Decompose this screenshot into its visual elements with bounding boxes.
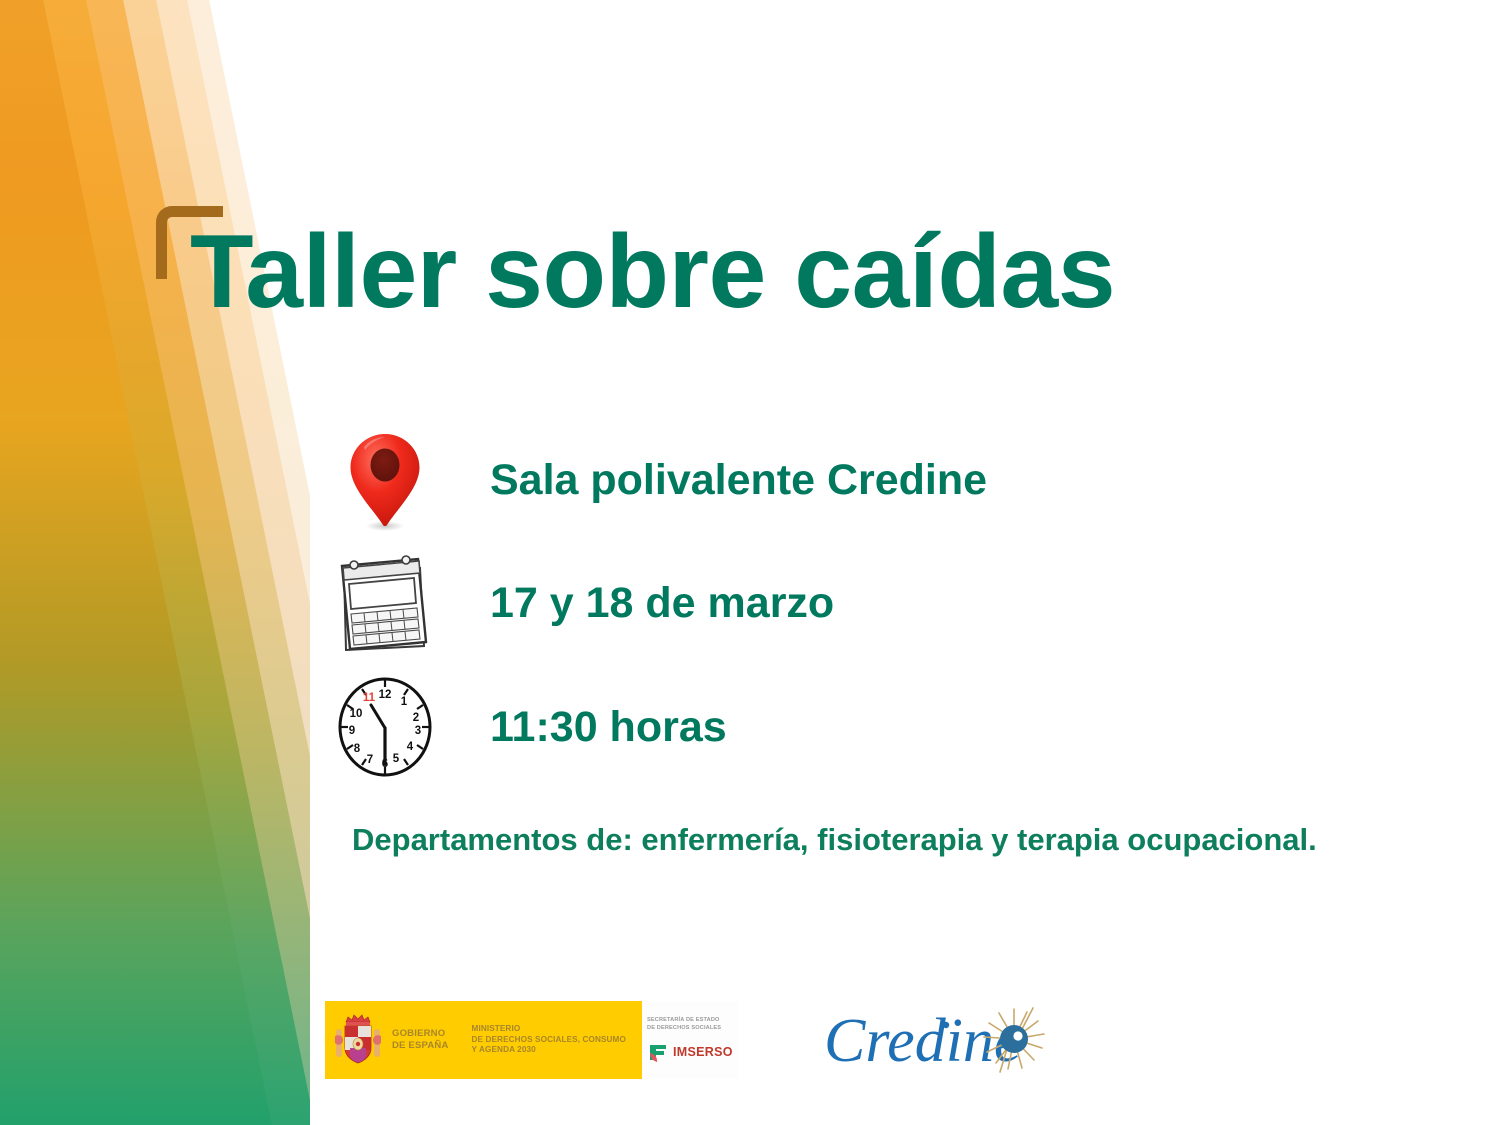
clock-icon: 12 1 2 3 4 5 6 7 8 9 10 11 bbox=[330, 672, 440, 782]
secretaria-line-2: DE DERECHOS SOCIALES bbox=[647, 1025, 738, 1033]
page-title: Taller sobre caídas bbox=[190, 218, 1115, 327]
gobierno-line-2: DE ESPAÑA bbox=[392, 1040, 449, 1052]
gobierno-de-espana-text: GOBIERNO DE ESPAÑA bbox=[392, 1028, 449, 1051]
svg-text:12: 12 bbox=[379, 689, 392, 701]
credine-logo: Credine bbox=[818, 993, 1068, 1089]
ministerio-line-1: MINISTERIO bbox=[472, 1024, 626, 1035]
band-stripe-5 bbox=[148, 0, 310, 1125]
imserso-mark-icon bbox=[647, 1041, 669, 1063]
secretaria-de-estado-text: SECRETARÍA DE ESTADO DE DERECHOS SOCIALE… bbox=[647, 1017, 738, 1032]
info-row-time: 12 1 2 3 4 5 6 7 8 9 10 11 11:30 horas bbox=[330, 672, 727, 782]
svg-text:3: 3 bbox=[415, 725, 421, 737]
svg-text:2: 2 bbox=[413, 712, 419, 724]
map-pin-icon bbox=[330, 425, 440, 535]
spain-coat-of-arms-icon bbox=[333, 1012, 383, 1068]
svg-text:8: 8 bbox=[354, 743, 361, 755]
info-row-date: 17 y 18 de marzo bbox=[330, 548, 834, 658]
svg-text:5: 5 bbox=[393, 753, 400, 765]
credine-wordmark: Credine bbox=[824, 1007, 1021, 1075]
presentation-slide: Taller sobre caídas bbox=[0, 0, 1500, 1125]
band-stripe-1 bbox=[0, 0, 296, 1125]
calendar-icon bbox=[330, 548, 440, 658]
band-stripe-3 bbox=[78, 0, 310, 1125]
svg-text:Credine: Credine bbox=[824, 1007, 1021, 1075]
imserso-lockup: IMSERSO bbox=[647, 1041, 738, 1063]
government-of-spain-logo: GOBIERNO DE ESPAÑA MINISTERIO DE DERECHO… bbox=[325, 1001, 738, 1079]
svg-text:10: 10 bbox=[350, 708, 363, 720]
band-stripe-4 bbox=[115, 0, 310, 1125]
svg-text:9: 9 bbox=[349, 725, 355, 737]
band-stripe-6 bbox=[179, 0, 310, 1125]
imserso-label: IMSERSO bbox=[673, 1045, 733, 1059]
imserso-panel: SECRETARÍA DE ESTADO DE DERECHOS SOCIALE… bbox=[641, 1001, 738, 1079]
gobierno-line-1: GOBIERNO bbox=[392, 1028, 449, 1040]
gob-logo-yellow-panel: GOBIERNO DE ESPAÑA MINISTERIO DE DERECHO… bbox=[325, 1001, 641, 1079]
clock-highlight-hour: 11 bbox=[363, 692, 376, 704]
info-text-date: 17 y 18 de marzo bbox=[490, 579, 834, 628]
info-row-place: Sala polivalente Credine bbox=[330, 425, 987, 535]
info-text-place: Sala polivalente Credine bbox=[490, 456, 987, 505]
svg-text:4: 4 bbox=[407, 741, 414, 753]
decorative-diagonal-band bbox=[0, 0, 310, 1125]
ministerio-line-3: Y AGENDA 2030 bbox=[472, 1045, 626, 1056]
info-text-time: 11:30 horas bbox=[490, 703, 727, 752]
departments-note: Departamentos de: enfermería, fisioterap… bbox=[352, 822, 1317, 858]
svg-text:7: 7 bbox=[367, 754, 373, 766]
band-stripe-2 bbox=[35, 0, 310, 1125]
ministerio-text: MINISTERIO DE DERECHOS SOCIALES, CONSUMO… bbox=[472, 1024, 626, 1056]
svg-text:1: 1 bbox=[401, 696, 408, 708]
ministerio-line-2: DE DERECHOS SOCIALES, CONSUMO bbox=[472, 1035, 626, 1046]
secretaria-line-1: SECRETARÍA DE ESTADO bbox=[647, 1017, 738, 1025]
